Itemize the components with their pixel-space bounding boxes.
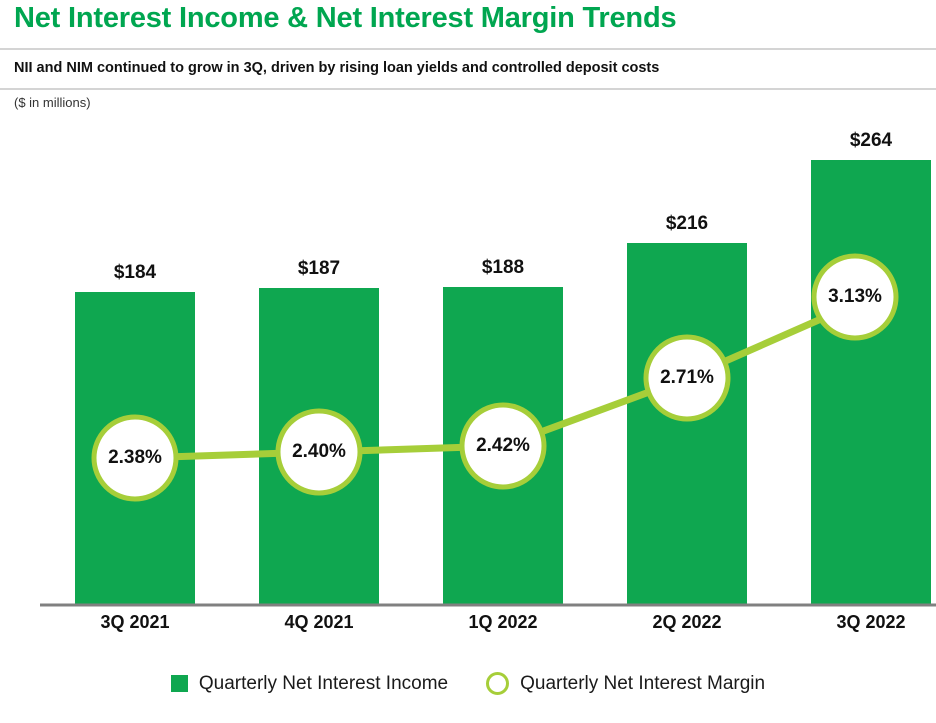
x-axis-label-1q-2022: 1Q 2022	[443, 612, 563, 633]
bar-label-3q-2021: $184	[75, 262, 195, 284]
x-axis-label-3q-2021: 3Q 2021	[75, 612, 195, 633]
bar-series	[75, 160, 931, 604]
x-axis-label-2q-2022: 2Q 2022	[627, 612, 747, 633]
legend-item-net-interest-margin: Quarterly Net Interest Margin	[486, 672, 765, 695]
legend-label-net-interest-margin: Quarterly Net Interest Margin	[520, 673, 765, 695]
bar-3q-2022	[811, 160, 931, 604]
bar-label-4q-2021: $187	[259, 258, 379, 280]
bar-label-1q-2022: $188	[443, 257, 563, 279]
bar-2q-2022	[627, 243, 747, 604]
nim-label-3q-2021: 2.38%	[75, 447, 195, 469]
legend-item-net-interest-income: Quarterly Net Interest Income	[171, 673, 448, 695]
chart-graphics	[0, 0, 936, 660]
x-axis-label-4q-2021: 4Q 2021	[259, 612, 379, 633]
bar-label-3q-2022: $264	[811, 130, 931, 152]
circle-outline-icon	[486, 672, 509, 695]
chart-plot-area: $184 $187 $188 $216 $264 2.38% 2.40% 2.4…	[0, 0, 936, 660]
x-axis-label-3q-2022: 3Q 2022	[811, 612, 931, 633]
chart-legend: Quarterly Net Interest Income Quarterly …	[0, 672, 936, 695]
bar-label-2q-2022: $216	[627, 213, 747, 235]
square-swatch-icon	[171, 675, 188, 692]
nim-label-3q-2022: 3.13%	[795, 286, 915, 308]
nim-label-2q-2022: 2.71%	[627, 367, 747, 389]
nim-label-1q-2022: 2.42%	[443, 435, 563, 457]
nim-label-4q-2021: 2.40%	[259, 441, 379, 463]
legend-label-net-interest-income: Quarterly Net Interest Income	[199, 673, 448, 695]
